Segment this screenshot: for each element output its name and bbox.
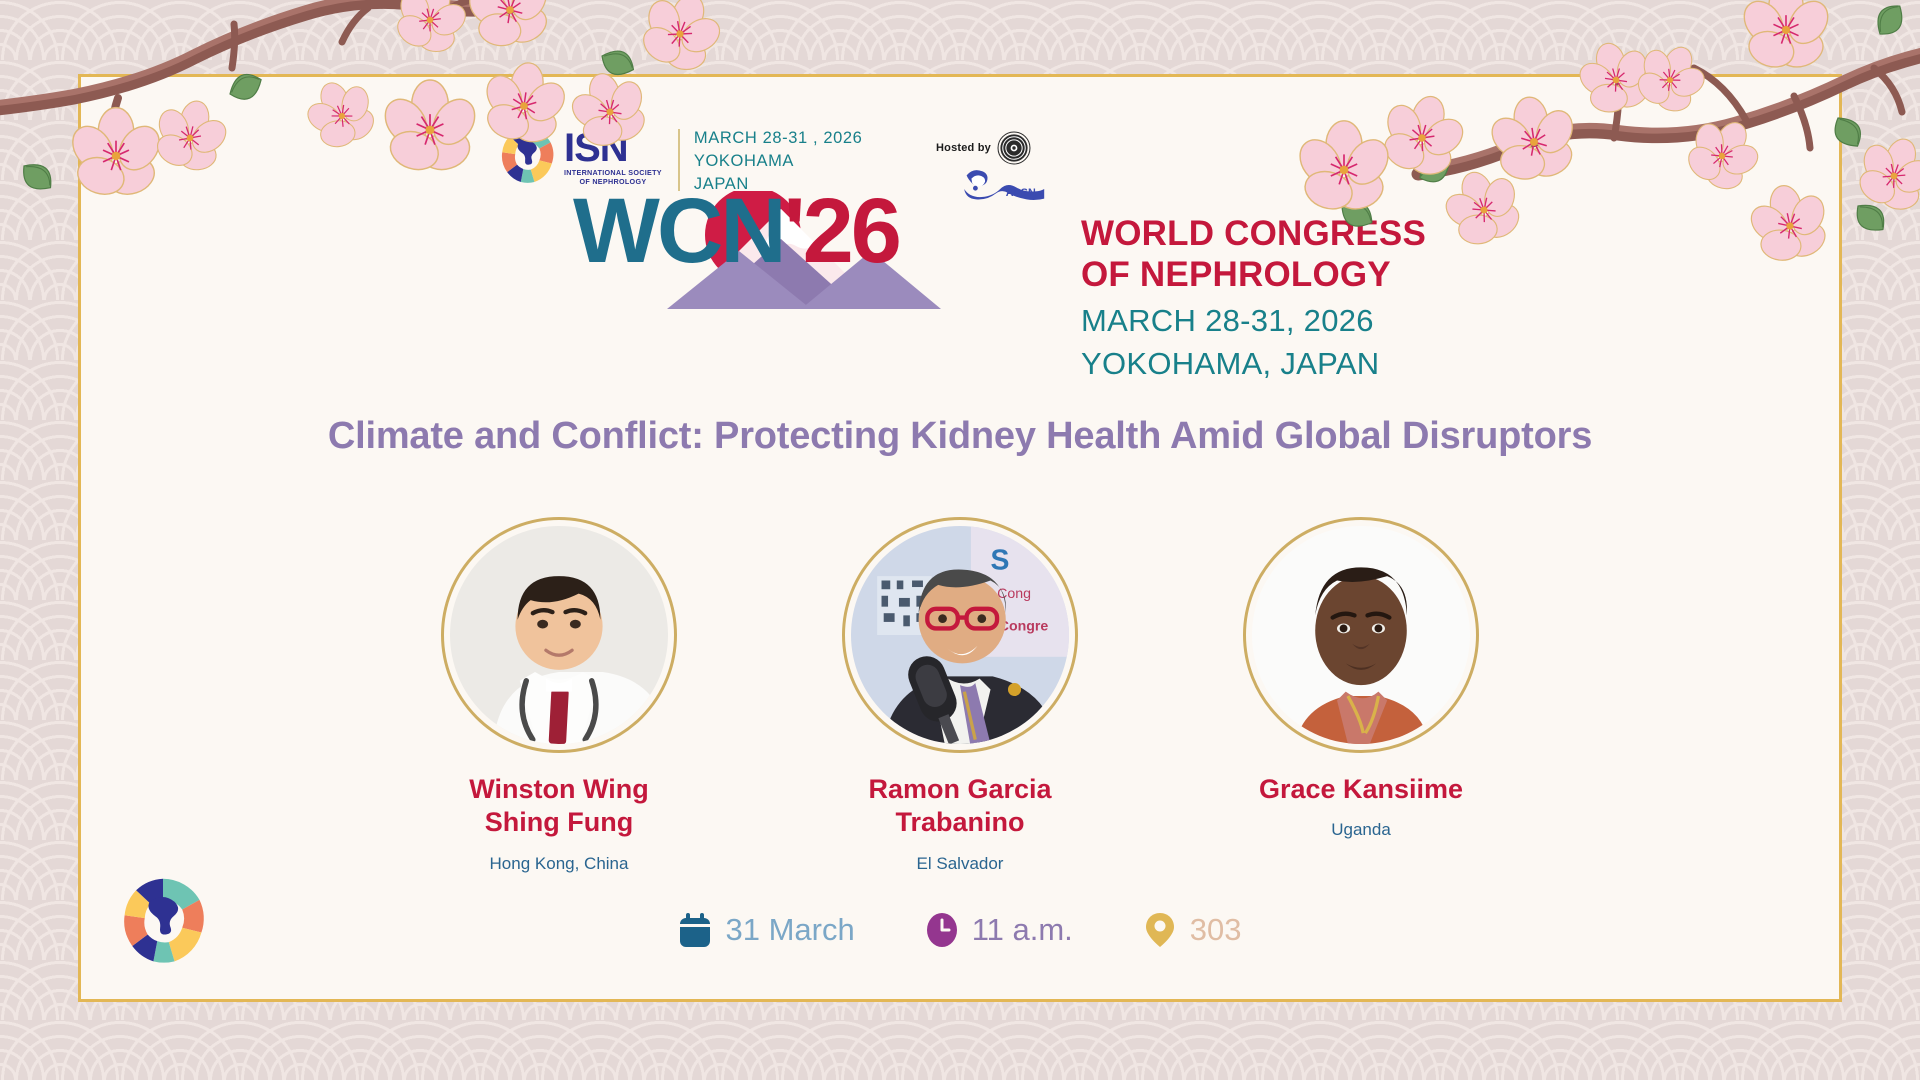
avatar xyxy=(450,526,668,744)
hosted-by-block: Hosted by xyxy=(936,131,1031,165)
speaker-avatar-ring: S x Cong n Congre xyxy=(842,517,1078,753)
speaker-country: Hong Kong, China xyxy=(414,854,704,874)
jsn-seal-icon xyxy=(997,131,1031,165)
wcn-prefix: WCN xyxy=(573,180,784,282)
location-pin-icon xyxy=(1143,911,1177,949)
speaker-country: El Salvador xyxy=(815,854,1105,874)
wcn-suffix: '26 xyxy=(784,180,899,282)
wcn-wordmark: WCN'26 xyxy=(573,185,899,277)
session-date: 31 March xyxy=(725,912,854,948)
calendar-icon xyxy=(678,911,712,949)
session-time: 11 a.m. xyxy=(972,912,1073,948)
hosted-by-label: Hosted by xyxy=(936,142,991,154)
speaker-card: Winston Wing Shing Fung Hong Kong, China xyxy=(414,517,704,874)
event-header: ISN INTERNATIONAL SOCIETY OF NEPHROLOGY … xyxy=(81,103,1839,303)
isn-wordmark: ISN INTERNATIONAL SOCIETY OF NEPHROLOGY xyxy=(564,125,662,186)
svg-text:S: S xyxy=(991,545,1010,577)
speaker-name-line-1: Winston Wing xyxy=(414,773,704,806)
congress-line-2: OF NEPHROLOGY xyxy=(1081,254,1426,295)
speaker-name-line-1: Ramon Garcia xyxy=(815,773,1105,806)
clock-icon xyxy=(925,911,959,949)
session-title: Climate and Conflict: Protecting Kidney … xyxy=(81,415,1839,458)
session-room-item: 303 xyxy=(1143,911,1242,949)
speaker-name-line-2: Trabanino xyxy=(815,806,1105,839)
avatar: S x Cong n Congre xyxy=(851,526,1069,744)
header-date: MARCH 28-31 , 2026 xyxy=(694,127,863,150)
speaker-list: Winston Wing Shing Fung Hong Kong, China… xyxy=(81,517,1839,874)
speaker-card: Grace Kansiime Uganda xyxy=(1216,517,1506,874)
congress-title-block: WORLD CONGRESS OF NEPHROLOGY MARCH 28-31… xyxy=(1081,213,1426,382)
session-card: ISN INTERNATIONAL SOCIETY OF NEPHROLOGY … xyxy=(78,74,1842,1002)
speaker-avatar-ring xyxy=(1243,517,1479,753)
speaker-name-line-2: Shing Fung xyxy=(414,806,704,839)
congress-date: MARCH 28-31, 2026 xyxy=(1081,302,1426,339)
speaker-country: Uganda xyxy=(1216,820,1506,840)
wcn-26-lockup: WCN'26 xyxy=(481,191,1021,303)
header-city: YOKOHAMA xyxy=(694,150,863,173)
avatar xyxy=(1252,526,1470,744)
session-date-item: 31 March xyxy=(678,911,854,949)
session-room: 303 xyxy=(1190,912,1242,948)
isn-acronym: ISN xyxy=(564,129,662,167)
session-info-bar: 31 March 11 a.m. 303 xyxy=(81,911,1839,949)
session-time-item: 11 a.m. xyxy=(925,911,1073,949)
isn-kidney-logo-icon xyxy=(496,125,558,187)
speaker-card: S x Cong n Congre xyxy=(815,517,1105,874)
speaker-name-line-1: Grace Kansiime xyxy=(1216,773,1506,806)
isn-subtitle-line-1: INTERNATIONAL SOCIETY xyxy=(564,168,662,177)
speaker-avatar-ring xyxy=(441,517,677,753)
congress-location: YOKOHAMA, JAPAN xyxy=(1081,345,1426,382)
congress-line-1: WORLD CONGRESS xyxy=(1081,213,1426,254)
